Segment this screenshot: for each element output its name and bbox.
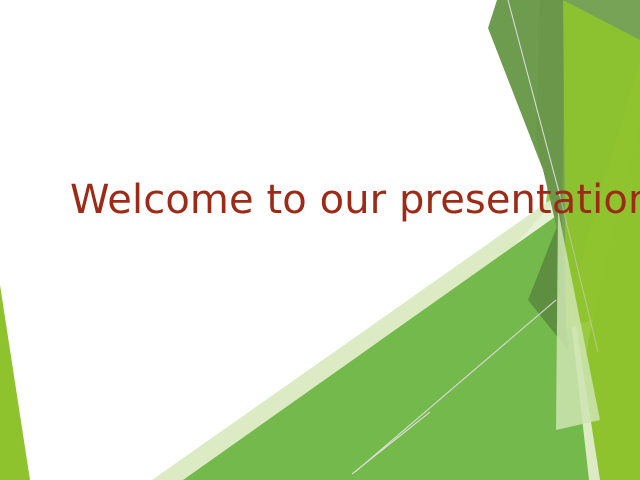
lower-hairline-diagonal-line	[355, 300, 556, 472]
page-title: Welcome to our presentation	[70, 178, 640, 223]
presentation-slide: Welcome to our presentation	[0, 0, 640, 480]
right-edge-bright-green-shape	[523, 0, 640, 480]
top-dark-olive-band-lower-shape	[561, 0, 640, 330]
upper-hairline-diagonal-line	[508, 0, 560, 196]
slide-title-placeholder[interactable]: Welcome to our presentation	[70, 168, 610, 232]
right-mid-bright-green-shape	[563, 0, 640, 330]
lower-pale-green-triangle-shape	[152, 196, 600, 480]
lower-hairline-diagonal-tail-line	[352, 412, 430, 474]
bottom-left-green-wedge-shape	[0, 285, 30, 480]
lower-medium-green-wedge-shape	[183, 214, 589, 480]
pale-green-highlight-sliver-shape	[556, 210, 600, 430]
slide-background-decoration	[0, 0, 640, 480]
lower-very-pale-green-triangle-shape	[300, 200, 572, 480]
lower-deep-green-sliver-shape	[528, 216, 568, 350]
